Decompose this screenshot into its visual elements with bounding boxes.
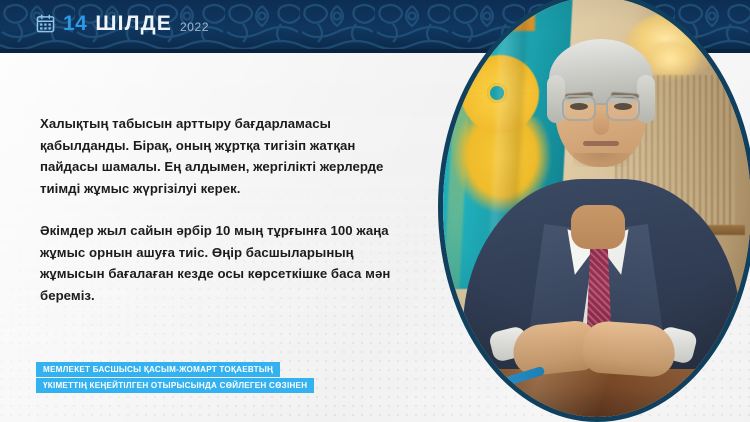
quote-paragraph-1: Халықтың табысын арттыру бағдарламасы қа… bbox=[40, 113, 410, 199]
hand-right bbox=[581, 320, 676, 378]
mouth bbox=[583, 141, 619, 146]
date-display: 14 ШІЛДЕ 2022 bbox=[36, 13, 209, 34]
quote-card: 14 ШІЛДЕ 2022 Халықтың табысын арттыру б… bbox=[0, 0, 750, 422]
attribution-banner: МЕМЛЕКЕТ БАСШЫСЫ ҚАСЫМ-ЖОМАРТ ТОҚАЕВТЫҢ … bbox=[36, 362, 314, 393]
date-day: 14 bbox=[63, 13, 87, 34]
portrait-image bbox=[443, 0, 750, 417]
hair-side-right bbox=[637, 75, 655, 123]
quote-text-block: Халықтың табысын арттыру бағдарламасы қа… bbox=[40, 113, 410, 306]
date-year: 2022 bbox=[180, 21, 209, 34]
chin-shadow bbox=[573, 153, 629, 167]
calendar-icon bbox=[36, 14, 55, 33]
eyeglass-lens-right bbox=[606, 95, 640, 121]
attribution-line-1: МЕМЛЕКЕТ БАСШЫСЫ ҚАСЫМ-ЖОМАРТ ТОҚАЕВТЫҢ bbox=[36, 362, 280, 377]
neck bbox=[571, 205, 625, 249]
eyeglass-lens-left bbox=[562, 95, 596, 121]
portrait-photo bbox=[438, 0, 750, 422]
eyeglass-bridge bbox=[596, 103, 608, 105]
attribution-line-2: ҮКІМЕТТІҢ КЕҢЕЙТІЛГЕН ОТЫРЫСЫНДА СӨЙЛЕГЕ… bbox=[36, 378, 314, 393]
portrait-ring bbox=[438, 0, 750, 422]
date-month: ШІЛДЕ bbox=[95, 13, 172, 34]
quote-paragraph-2: Әкімдер жыл сайын әрбір 10 мың тұрғынға … bbox=[40, 220, 410, 306]
nose bbox=[593, 109, 609, 135]
